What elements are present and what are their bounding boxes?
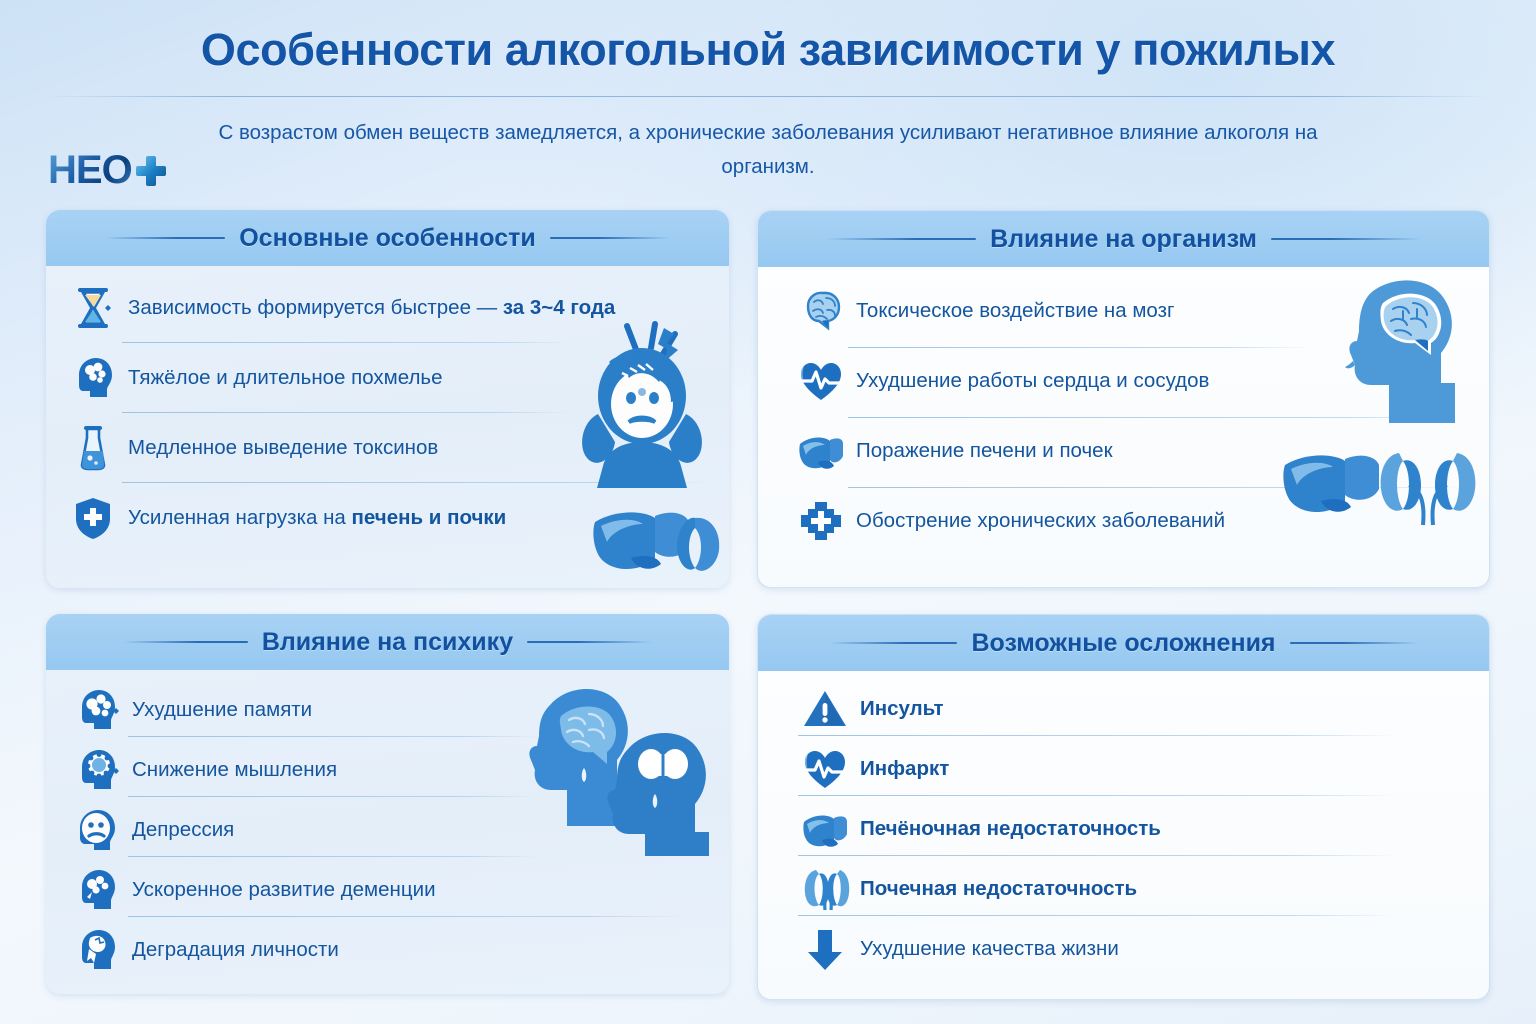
feature-row: Зависимость формируется быстрее — за 3~4…: [70, 278, 615, 338]
card-body: Зависимость формируется быстрее — за 3~4…: [46, 266, 729, 588]
header-rule-right: [1290, 642, 1418, 644]
feature-row: Поражение печени и почек: [798, 421, 1113, 481]
liver-icon: [798, 428, 844, 474]
flask-icon: [70, 425, 116, 471]
feature-row: Ускоренное развитие деменции: [74, 860, 436, 920]
warning-triangle-icon: [802, 686, 848, 732]
head-with-brain-illustration: [1337, 273, 1467, 433]
header-rule-left: [105, 237, 225, 239]
feature-row: Ухудшение памяти: [74, 680, 312, 740]
head-degradation-icon: [74, 927, 120, 973]
card-grid: Основные особенности: [46, 210, 1490, 994]
row-divider: [848, 487, 1458, 488]
feature-label: Деградация личности: [132, 938, 339, 962]
head-memory-icon: [74, 687, 120, 733]
person-headache-illustration: [567, 318, 717, 488]
header-rule-right: [1271, 238, 1421, 240]
feature-label: Почечная недостаточность: [860, 877, 1137, 901]
card-header: Возможные осложнения: [758, 615, 1489, 671]
shield-cross-icon: [70, 495, 116, 541]
card-complications: Возможные осложнения Инсульт: [757, 614, 1490, 1000]
feature-label: Ухудшение качества жизни: [860, 937, 1119, 961]
card-body-impact: Влияние на организм: [757, 210, 1490, 588]
feature-row: Снижение мышления: [74, 740, 337, 800]
row-divider: [848, 347, 1308, 348]
header-rule-left: [829, 642, 957, 644]
feature-label: Тяжёлое и длительное похмелье: [128, 366, 443, 390]
card-header: Основные особенности: [46, 210, 729, 266]
hourglass-icon: [70, 285, 116, 331]
logo-wordmark: НЕО: [48, 148, 132, 193]
card-main-features: Основные особенности: [46, 210, 729, 588]
feature-row: Медленное выведение токсинов: [70, 418, 438, 478]
card-title: Влияние на психику: [262, 628, 513, 657]
page-title: Особенности алкогольной зависимости у по…: [0, 24, 1536, 76]
feature-row: Инфаркт: [802, 739, 949, 799]
card-title: Основные особенности: [239, 224, 536, 253]
page-subtitle: С возрастом обмен веществ замедляется, а…: [173, 116, 1363, 184]
kidneys-icon: [802, 866, 848, 912]
head-thinking-icon: [74, 747, 120, 793]
heart-pulse-icon: [798, 358, 844, 404]
feature-label: Усиленная нагрузка на печень и почки: [128, 506, 506, 530]
liver-kidney-illustration: [591, 502, 721, 582]
feature-label: Токсическое воздействие на мозг: [856, 299, 1174, 323]
feature-label: Зависимость формируется быстрее — за 3~4…: [128, 296, 615, 320]
row-divider: [122, 342, 572, 343]
feature-row: Обострение хронических заболеваний: [798, 491, 1225, 551]
feature-label: Депрессия: [132, 818, 234, 842]
brand-logo: НЕО: [48, 148, 166, 193]
plus-icon: [136, 156, 166, 186]
two-heads-brain-illustration: [521, 676, 711, 856]
feature-row: Ухудшение качества жизни: [802, 919, 1119, 979]
feature-label: Медленное выведение токсинов: [128, 436, 438, 460]
feature-row: Усиленная нагрузка на печень и почки: [70, 488, 506, 548]
card-title: Влияние на организм: [990, 225, 1257, 254]
feature-row: Печёночная недостаточность: [802, 799, 1161, 859]
card-header: Влияние на психику: [46, 614, 729, 670]
card-body: Токсическое воздействие на мозг Ухудшени…: [758, 267, 1489, 587]
feature-row: Тяжёлое и длительное похмелье: [70, 348, 443, 408]
cross-medical-icon: [798, 498, 844, 544]
title-divider: [46, 96, 1490, 97]
card-body: Инсульт Инфаркт: [758, 671, 1489, 999]
feature-row: Ухудшение работы сердца и сосудов: [798, 351, 1209, 411]
feature-label: Ускоренное развитие деменции: [132, 878, 436, 902]
down-arrow-icon: [802, 926, 848, 972]
card-body: Ухудшение памяти: [46, 670, 729, 994]
feature-label: Инсульт: [860, 697, 944, 721]
feature-row: Деградация личности: [74, 920, 339, 980]
feature-label: Снижение мышления: [132, 758, 337, 782]
header-rule-right: [550, 237, 670, 239]
card-header: Влияние на организм: [758, 211, 1489, 267]
feature-label: Печёночная недостаточность: [860, 817, 1161, 841]
feature-label: Обострение хронических заболеваний: [856, 509, 1225, 533]
feature-label: Ухудшение работы сердца и сосудов: [856, 369, 1209, 393]
feature-label: Инфаркт: [860, 757, 949, 781]
row-divider: [848, 417, 1458, 418]
header-rule-left: [826, 238, 976, 240]
card-mental-impact: Влияние на психику: [46, 614, 729, 994]
header-rule-left: [123, 641, 248, 643]
feature-label: Ухудшение памяти: [132, 698, 312, 722]
feature-row: Токсическое воздействие на мозг: [798, 281, 1174, 341]
feature-row: Депрессия: [74, 800, 234, 860]
row-divider: [122, 482, 712, 483]
brain-icon: [798, 288, 844, 334]
head-sad-face-icon: [74, 807, 120, 853]
card-title: Возможные осложнения: [971, 629, 1275, 658]
heart-pulse-icon: [802, 746, 848, 792]
header-rule-right: [527, 641, 652, 643]
row-divider: [122, 412, 572, 413]
head-dementia-icon: [74, 867, 120, 913]
feature-row: Почечная недостаточность: [802, 859, 1137, 919]
head-hangover-icon: [70, 355, 116, 401]
liver-icon: [802, 806, 848, 852]
feature-row: Инсульт: [802, 679, 944, 739]
feature-label: Поражение печени и почек: [856, 439, 1113, 463]
